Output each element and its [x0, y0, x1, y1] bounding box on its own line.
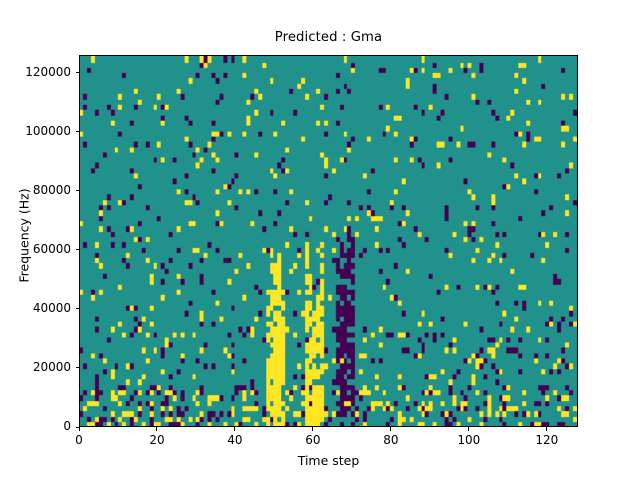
y-tick-mark: [76, 131, 80, 132]
heatmap-image: [80, 56, 577, 426]
y-tick-label: 100000: [7, 124, 71, 138]
x-tick-mark: [468, 427, 469, 431]
y-tick-label: 120000: [7, 65, 71, 79]
x-axis-label: Time step: [79, 453, 578, 468]
x-tick-label: 0: [49, 433, 109, 447]
y-tick-mark: [76, 190, 80, 191]
y-axis-label: Frequency (Hz): [17, 156, 32, 316]
y-tick-mark: [76, 427, 80, 428]
y-tick-mark: [76, 308, 80, 309]
x-tick-mark: [234, 427, 235, 431]
x-tick-label: 20: [127, 433, 187, 447]
x-tick-mark: [312, 427, 313, 431]
x-tick-label: 80: [361, 433, 421, 447]
x-tick-mark: [390, 427, 391, 431]
x-tick-mark: [546, 427, 547, 431]
x-tick-mark: [79, 427, 80, 431]
x-tick-label: 40: [205, 433, 265, 447]
x-tick-label: 100: [439, 433, 499, 447]
y-tick-mark: [76, 72, 80, 73]
matplotlib-figure: Predicted : Gma 020406080100120 02000040…: [0, 0, 640, 480]
x-tick-label: 60: [283, 433, 343, 447]
y-tick-mark: [76, 249, 80, 250]
chart-title: Predicted : Gma: [79, 30, 578, 45]
heatmap-axes: [79, 55, 578, 427]
y-tick-label: 20000: [7, 360, 71, 374]
x-tick-mark: [156, 427, 157, 431]
y-tick-label: 0: [7, 419, 71, 433]
x-tick-label: 120: [517, 433, 577, 447]
y-tick-mark: [76, 367, 80, 368]
